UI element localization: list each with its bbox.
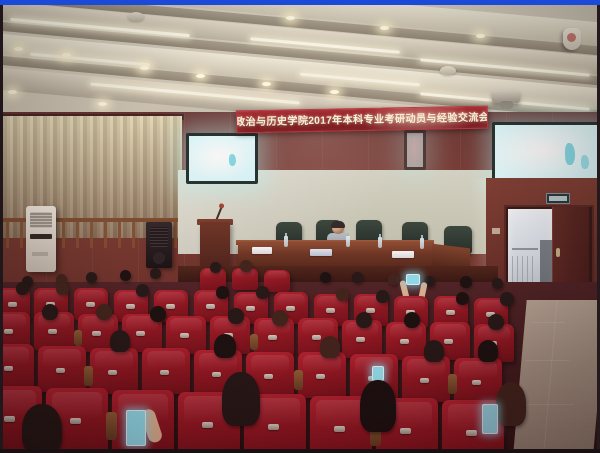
screenshot-bottom-border	[0, 449, 600, 453]
screenshot-left-border	[0, 0, 3, 453]
ceiling-downlight	[62, 53, 71, 57]
wall-speaker	[146, 222, 172, 268]
ceiling-downlight	[380, 26, 389, 30]
projection-screen-left	[186, 133, 258, 184]
ceiling-downlight	[476, 34, 485, 38]
smoke-detector-icon	[128, 12, 144, 21]
speaker-hair	[331, 221, 345, 228]
ceiling-downlight	[8, 90, 17, 94]
hallway-railing	[512, 248, 538, 250]
water-bottle	[378, 237, 382, 248]
wall-switch-plate	[492, 228, 500, 234]
water-bottle	[420, 238, 424, 249]
ceiling-downlight	[330, 90, 339, 94]
ceiling-downlight	[98, 102, 107, 106]
screen-content-blob	[229, 154, 236, 166]
projection-screen-right	[492, 122, 600, 184]
nameplate	[310, 249, 332, 256]
projection-screen-center	[404, 130, 426, 170]
smartphone-screen	[482, 404, 498, 434]
ceiling-downlight	[14, 47, 23, 51]
ac-logo	[32, 252, 48, 256]
ceiling-downlight	[196, 74, 205, 78]
ceiling-camera	[563, 28, 581, 50]
smartphone-screen	[126, 410, 146, 446]
screen-content-blob	[581, 155, 589, 169]
floor-air-conditioner	[26, 206, 56, 272]
right-aisle	[513, 300, 600, 453]
nameplate	[252, 247, 272, 254]
water-bottle	[284, 236, 288, 247]
auditorium-photograph: 政治与历史学院2017年本科专业考研动员与经验交流会	[0, 0, 600, 453]
screen-content-blob	[565, 143, 575, 165]
smoke-detector-icon	[440, 66, 456, 75]
screenshot-top-border	[0, 0, 600, 5]
ceiling-downlight	[140, 66, 149, 70]
ac-display	[30, 234, 52, 239]
smartphone-screen	[406, 274, 420, 285]
nameplate	[392, 251, 414, 258]
event-banner: 政治与历史学院2017年本科专业考研动员与经验交流会	[236, 106, 488, 134]
ceiling-downlight	[286, 16, 295, 20]
exit-sign	[546, 193, 570, 204]
door-handle-icon[interactable]	[556, 248, 560, 257]
ceiling	[0, 4, 600, 124]
ceiling-downlight	[262, 82, 271, 86]
ac-vent-grille	[30, 212, 52, 228]
ceiling-projector	[492, 90, 520, 103]
water-bottle	[346, 236, 350, 247]
